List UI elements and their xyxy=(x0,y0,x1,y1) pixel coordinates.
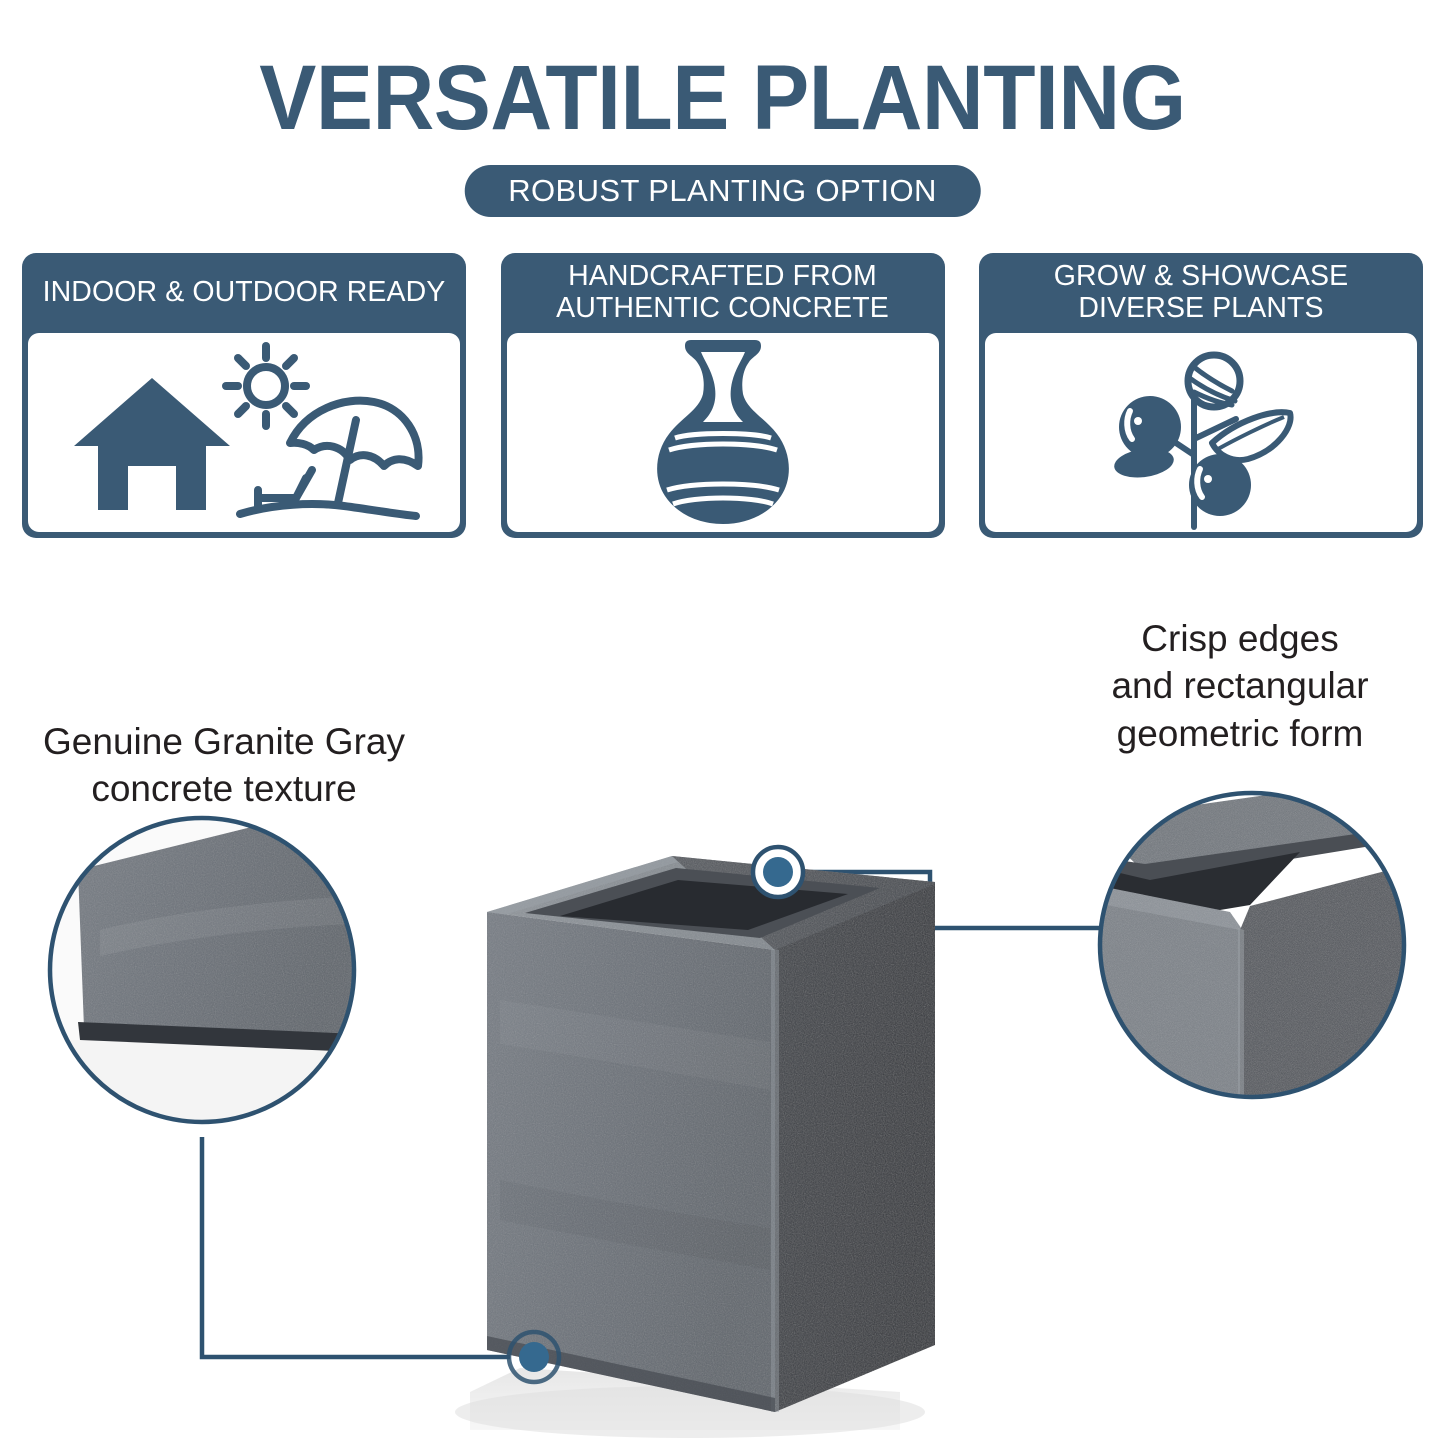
callout-lines xyxy=(202,872,1110,1357)
feature-card-title: HANDCRAFTED FROM AUTHENTIC CONCRETE xyxy=(501,253,945,333)
feature-card-icon-area xyxy=(985,333,1417,532)
page-title: VERSATILE PLANTING xyxy=(51,52,1395,146)
edge-callout-line xyxy=(778,872,1110,928)
feature-card-handcrafted-concrete: HANDCRAFTED FROM AUTHENTIC CONCRETE xyxy=(501,253,945,538)
infographic-page: VERSATILE PLANTING ROBUST PLANTING OPTIO… xyxy=(0,0,1445,1445)
callout-dot-texture xyxy=(509,1332,559,1382)
planter-rim-top xyxy=(487,856,935,950)
annotation-left: Genuine Granite Gray concrete texture xyxy=(14,718,434,813)
subtitle-badge-label: ROBUST PLANTING OPTION xyxy=(508,173,937,209)
annotation-right-line-1: Crisp edges xyxy=(1055,615,1425,662)
planter-side-face xyxy=(775,884,935,1412)
feature-cards-row: INDOOR & OUTDOOR READY xyxy=(22,253,1423,538)
feature-card-title: INDOOR & OUTDOOR READY xyxy=(22,253,466,333)
planter-interior xyxy=(560,880,848,930)
planter-inner-rim xyxy=(525,868,880,938)
callout-dot-edge xyxy=(753,847,803,897)
house-sun-beach-umbrella-icon xyxy=(44,338,444,528)
annotation-right-line-2: and rectangular xyxy=(1055,662,1425,709)
planter-product xyxy=(455,856,935,1438)
planter-front-face xyxy=(487,912,775,1412)
texture-magnifier-ring xyxy=(50,818,354,1122)
annotation-right: Crisp edges and rectangular geometric fo… xyxy=(1055,615,1425,757)
edge-magnifier xyxy=(1090,785,1420,1115)
subtitle-badge: ROBUST PLANTING OPTION xyxy=(464,165,981,217)
feature-card-icon-area xyxy=(507,333,939,532)
feature-card-indoor-outdoor: INDOOR & OUTDOOR READY xyxy=(22,253,466,538)
texture-callout-line xyxy=(202,1137,510,1357)
annotation-left-line-1: Genuine Granite Gray xyxy=(14,718,434,765)
feature-card-title: GROW & SHOWCASE DIVERSE PLANTS xyxy=(979,253,1423,333)
texture-magnifier xyxy=(40,800,370,1150)
edge-magnifier-ring xyxy=(1100,793,1404,1097)
feature-card-icon-area xyxy=(28,333,460,532)
plant-berry-sprig-icon xyxy=(1086,335,1316,530)
feature-card-grow-showcase: GROW & SHOWCASE DIVERSE PLANTS xyxy=(979,253,1423,538)
annotation-left-line-2: concrete texture xyxy=(14,765,434,812)
vase-icon xyxy=(623,338,823,528)
annotation-right-line-3: geometric form xyxy=(1055,710,1425,757)
